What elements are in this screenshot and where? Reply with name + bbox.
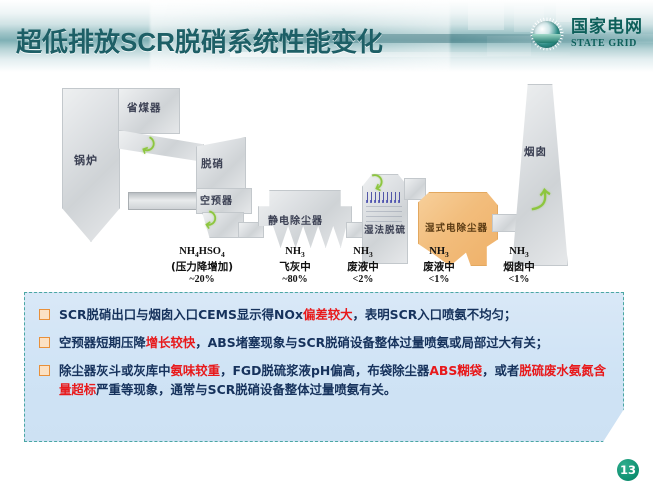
list-item: 空预器短期压降增长较快，ABS堵塞现象与SCR脱硝设备整体过量喷氨或局部过大有关… bbox=[39, 333, 609, 352]
bullet-square-icon bbox=[39, 309, 50, 320]
diagram-footnote-row: NH4HSO4 (压力降增加) ~20% NH3 飞灰中 ~80% NH3 废液… bbox=[0, 246, 653, 292]
footnote-location-4: 废液中 bbox=[406, 261, 472, 274]
footnote-species-1: NH4HSO4 bbox=[148, 246, 256, 261]
fgd-packing-bed bbox=[366, 206, 402, 222]
footnote-item-3: NH3 废液中 <2% bbox=[330, 246, 396, 286]
findings-callout-box: SCR脱硝出口与烟囱入口CEMS显示得NOx偏差较大，表明SCR入口喷氨不均匀；… bbox=[24, 292, 624, 442]
state-grid-logo: 国家电网 STATE GRID bbox=[530, 12, 643, 56]
diagram-shape-air-preheater-duct bbox=[128, 192, 198, 210]
diagram-shape-stack bbox=[512, 84, 568, 266]
footnote-value-1: ~20% bbox=[148, 274, 256, 286]
footnote-item-5: NH3 烟囱中 <1% bbox=[486, 246, 552, 286]
footnote-location-3: 废液中 bbox=[330, 261, 396, 274]
bullet-text-2: 空预器短期压降增长较快，ABS堵塞现象与SCR脱硝设备整体过量喷氨或局部过大有关… bbox=[59, 333, 548, 352]
diagram-label-stack: 烟囱 bbox=[524, 144, 547, 159]
footnote-location-2: 飞灰中 bbox=[262, 261, 328, 274]
diagram-shape-economizer-duct bbox=[118, 130, 204, 162]
footnote-item-1: NH4HSO4 (压力降增加) ~20% bbox=[148, 246, 256, 286]
footnote-species-4: NH3 bbox=[406, 246, 472, 261]
footnote-item-2: NH3 飞灰中 ~80% bbox=[262, 246, 328, 286]
slide-header-banner: 超低排放SCR脱硝系统性能变化 国家电网 STATE GRID bbox=[0, 0, 653, 72]
logo-text-cn: 国家电网 bbox=[571, 19, 643, 36]
list-item: 除尘器灰斗或灰库中氨味较重，FGD脱硫浆液pH偏高，布袋除尘器ABS糊袋，或者脱… bbox=[39, 361, 609, 399]
footnote-value-5: <1% bbox=[486, 274, 552, 286]
footnote-value-3: <2% bbox=[330, 274, 396, 286]
footnote-species-5: NH3 bbox=[486, 246, 552, 261]
bullet-square-icon bbox=[39, 365, 50, 376]
footnote-item-4: NH3 废液中 <1% bbox=[406, 246, 472, 286]
bullet-square-icon bbox=[39, 337, 50, 348]
banner-square-1 bbox=[468, 0, 504, 30]
page-number-badge: 13 bbox=[617, 459, 639, 481]
page-title: 超低排放SCR脱硝系统性能变化 bbox=[16, 22, 383, 59]
diagram-label-scr: 脱硝 bbox=[201, 156, 224, 171]
footnote-value-2: ~80% bbox=[262, 274, 328, 286]
diagram-shape-fgd-outlet-duct bbox=[404, 178, 426, 200]
slide: 超低排放SCR脱硝系统性能变化 国家电网 STATE GRID bbox=[0, 0, 653, 491]
fgd-spray-icon-2 bbox=[366, 200, 402, 203]
diagram-label-air-preheater: 空预器 bbox=[200, 192, 233, 207]
bullet-text-3: 除尘器灰斗或灰库中氨味较重，FGD脱硫浆液pH偏高，布袋除尘器ABS糊袋，或者脱… bbox=[59, 361, 609, 399]
findings-list: SCR脱硝出口与烟囱入口CEMS显示得NOx偏差较大，表明SCR入口喷氨不均匀；… bbox=[25, 293, 623, 399]
footnote-species-2: NH3 bbox=[262, 246, 328, 261]
footnote-species-3: NH3 bbox=[330, 246, 396, 261]
flow-arrow-stack-icon: ⤴ bbox=[528, 183, 553, 216]
diagram-label-fgd: 湿法脱硫 bbox=[364, 222, 406, 236]
diagram-label-esp: 静电除尘器 bbox=[268, 212, 323, 227]
diagram-label-wet-esp: 湿式电除尘器 bbox=[425, 220, 488, 234]
diagram-label-boiler: 锅炉 bbox=[74, 152, 98, 168]
bullet-text-1: SCR脱硝出口与烟囱入口CEMS显示得NOx偏差较大，表明SCR入口喷氨不均匀； bbox=[59, 305, 516, 324]
logo-text-en: STATE GRID bbox=[571, 39, 643, 49]
list-item: SCR脱硝出口与烟囱入口CEMS显示得NOx偏差较大，表明SCR入口喷氨不均匀； bbox=[39, 305, 609, 324]
state-grid-globe-icon bbox=[530, 17, 564, 51]
diagram-label-economizer: 省煤器 bbox=[127, 100, 162, 115]
footnote-value-4: <1% bbox=[406, 274, 472, 286]
footnote-location-5: 烟囱中 bbox=[486, 261, 552, 274]
footnote-location-1: (压力降增加) bbox=[148, 261, 256, 274]
